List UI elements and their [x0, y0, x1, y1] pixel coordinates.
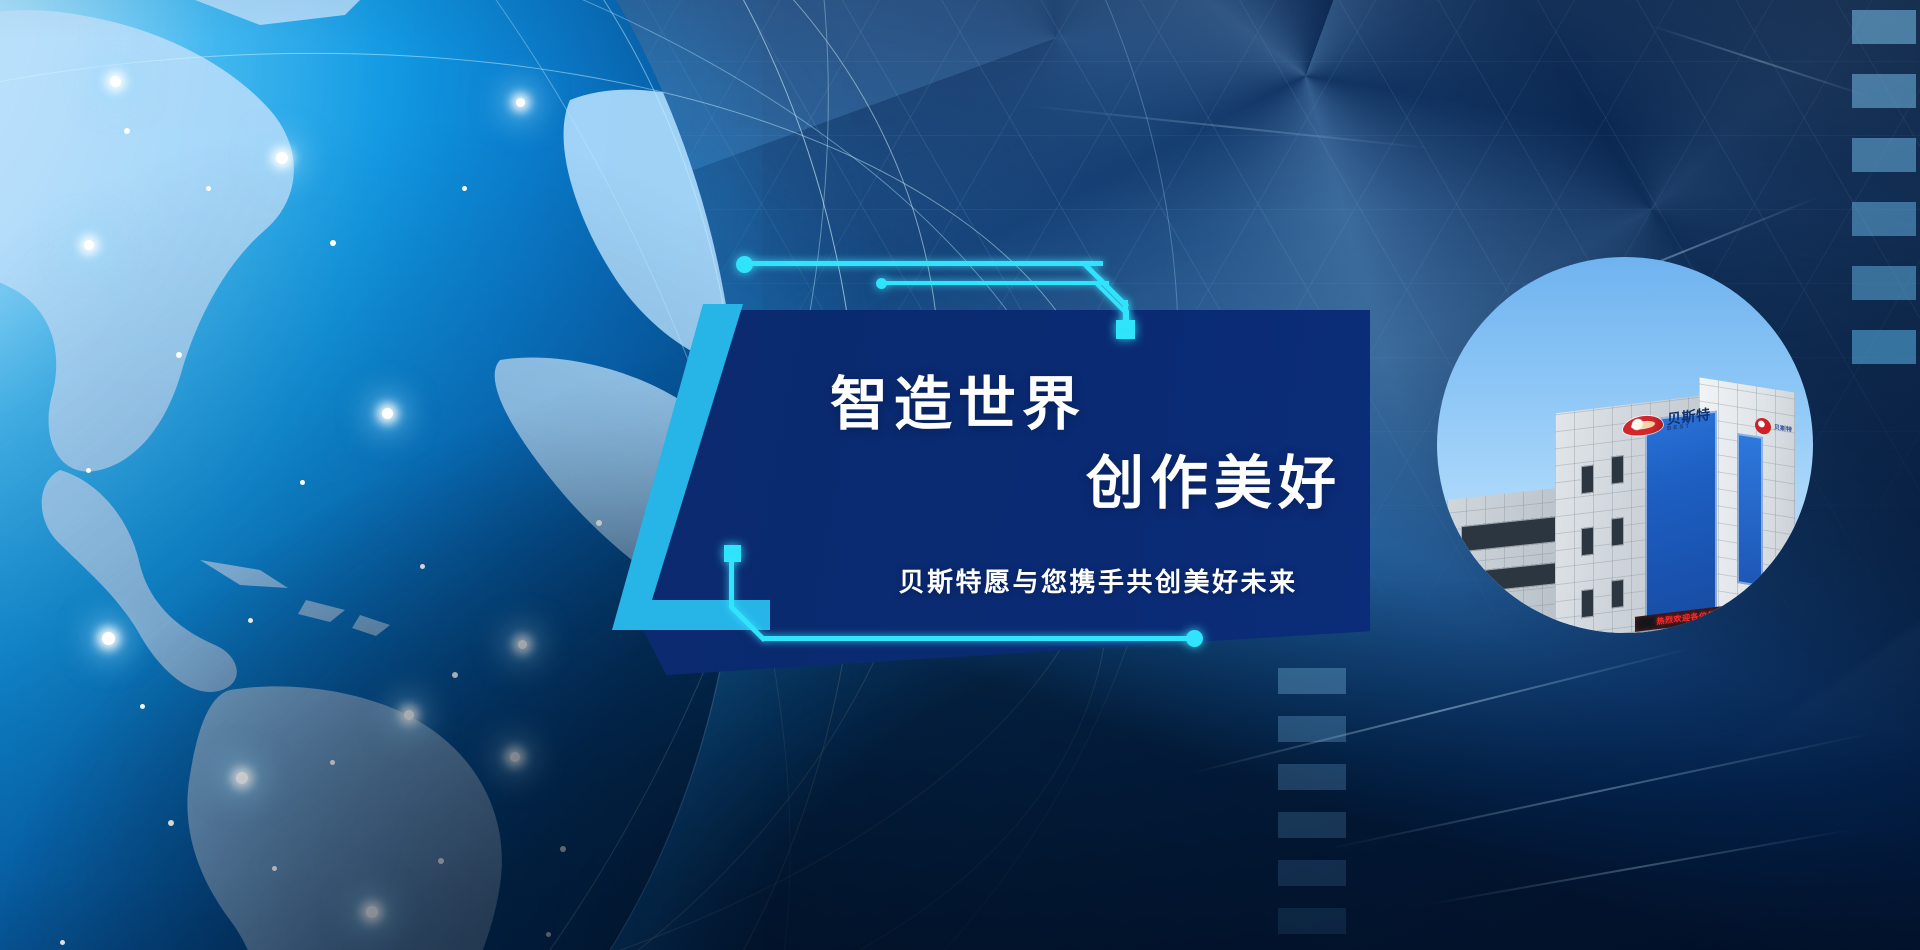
- decor-bar: [1852, 330, 1916, 364]
- decor-bar: [1278, 668, 1346, 694]
- decor-bar: [1852, 10, 1916, 44]
- headline-line-1: 智造世界: [830, 375, 1350, 436]
- decor-bar: [1852, 202, 1916, 236]
- decor-bar: [1852, 74, 1916, 108]
- decor-bar: [1278, 860, 1346, 886]
- headline-subtitle: 贝斯特愿与您携手共创美好未来: [838, 562, 1358, 599]
- headline-text-block: 智造世界 创作美好: [830, 375, 1350, 515]
- decor-bar: [1278, 908, 1346, 934]
- headline-line-2: 创作美好: [830, 454, 1350, 515]
- decor-bar: [1852, 138, 1916, 172]
- lower-middle-bar-stack: [1278, 668, 1346, 934]
- right-edge-bar-stack: [1852, 10, 1916, 364]
- decor-bar: [1278, 764, 1346, 790]
- hero-banner: 贝斯特 BEST 贝斯特 热烈欢迎各位领导莅临: [0, 0, 1920, 950]
- circuit-elbow-bottom: [729, 605, 766, 642]
- decor-bar: [1278, 716, 1346, 742]
- circuit-line-bottom: [764, 636, 1196, 641]
- decor-bar: [1852, 266, 1916, 300]
- circuit-drop-bottom: [729, 558, 734, 608]
- decor-bar: [1278, 812, 1346, 838]
- circuit-dot-bottom: [1186, 630, 1203, 647]
